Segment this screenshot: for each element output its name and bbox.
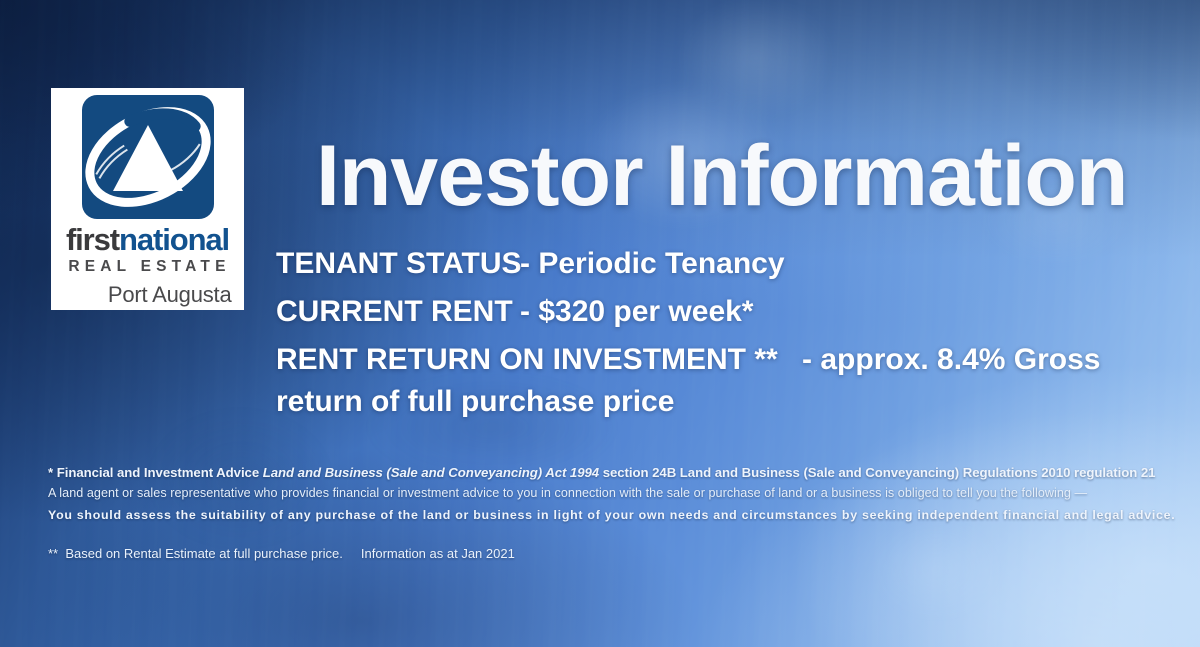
- page-title: Investor Information: [316, 133, 1127, 219]
- legal-disclaimer: * Financial and Investment Advice Land a…: [48, 462, 1158, 526]
- detail-row-current-rent: CURRENT RENT - $320 per week*: [276, 288, 1126, 336]
- first-national-logo: firstnational REAL ESTATE Port Augusta: [51, 88, 244, 310]
- disclaimer-section-reference: section 24B Land and Business (Sale and …: [599, 465, 1155, 480]
- disclaimer-line-body: A land agent or sales representative who…: [48, 483, 1158, 504]
- disclaimer-act-name: Land and Business (Sale and Conveyancing…: [263, 465, 599, 480]
- logo-wordmark-first: first: [66, 222, 119, 257]
- investor-information-slide: firstnational REAL ESTATE Port Augusta I…: [0, 0, 1200, 647]
- detail-label: TENANT STATUS: [276, 240, 520, 288]
- detail-value: - $320 per week*: [520, 288, 753, 336]
- disclaimer-line-heading: * Financial and Investment Advice Land a…: [48, 462, 1158, 483]
- detail-row-rent-return: RENT RETURN ON INVESTMENT ** - approx. 8…: [276, 339, 1116, 423]
- disclaimer-heading-text: * Financial and Investment Advice: [48, 465, 263, 480]
- footnote-rental-estimate: ** Based on Rental Estimate at full purc…: [48, 546, 515, 561]
- detail-row-tenant-status: TENANT STATUS - Periodic Tenancy: [276, 240, 1126, 288]
- logo-tagline: REAL ESTATE: [64, 259, 230, 275]
- first-national-swoosh-triangle-icon: [72, 95, 224, 219]
- investor-details-list: TENANT STATUS - Periodic Tenancy CURRENT…: [276, 240, 1126, 423]
- logo-wordmark-national: national: [119, 222, 229, 257]
- detail-label: RENT RETURN ON INVESTMENT **: [276, 343, 778, 376]
- disclaimer-line-advice: You should assess the suitability of any…: [48, 505, 1158, 526]
- detail-label: CURRENT RENT: [276, 288, 520, 336]
- logo-wordmark: firstnational: [66, 224, 229, 255]
- detail-value: - Periodic Tenancy: [520, 240, 785, 288]
- logo-branch-name: Port Augusta: [64, 283, 232, 307]
